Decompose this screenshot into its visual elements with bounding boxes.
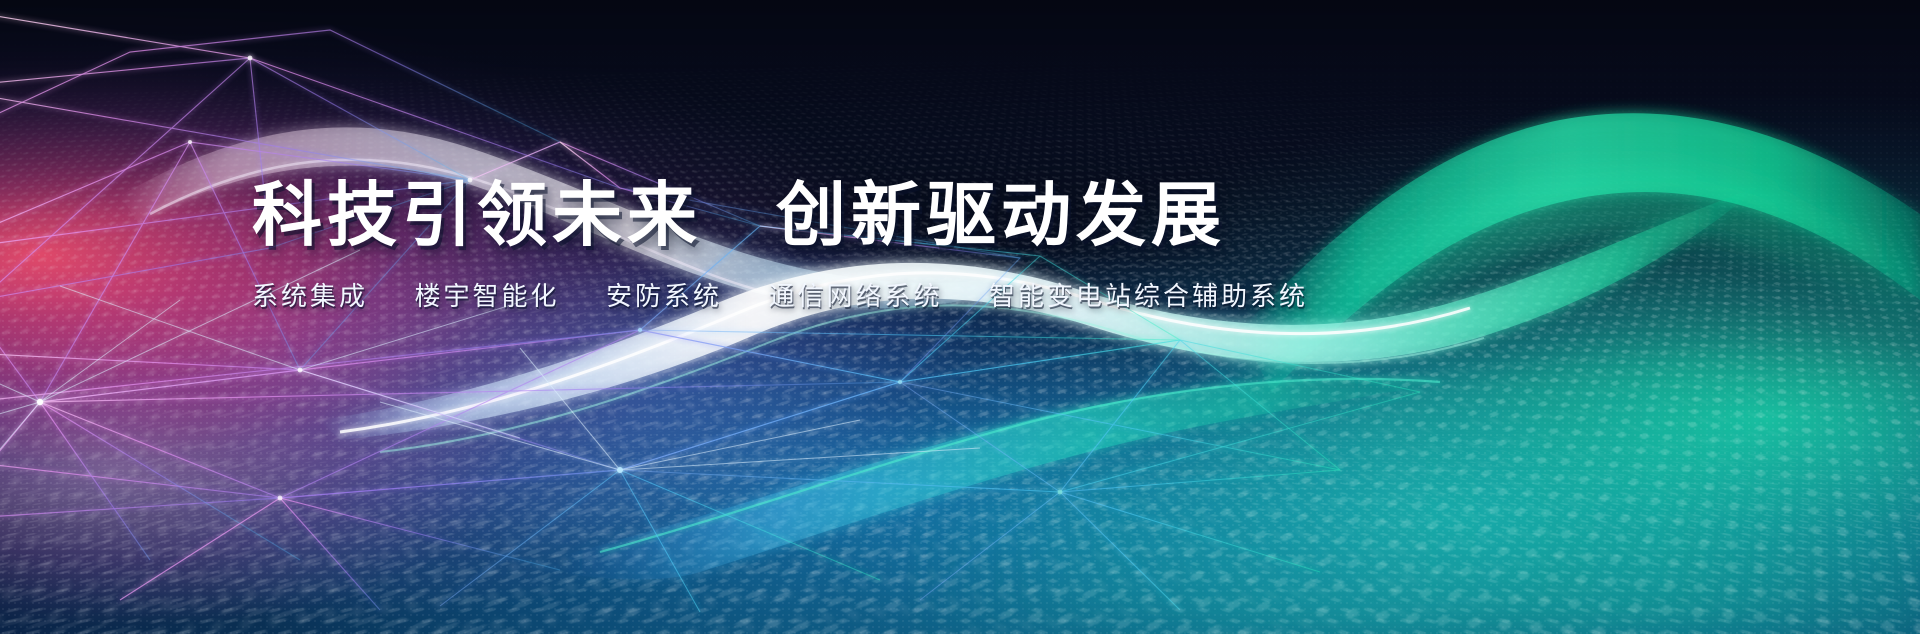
hero-banner: 科技引领未来 创新驱动发展 系统集成 楼宇智能化 安防系统 通信网络系统 智能变… (0, 0, 1920, 634)
banner-headline: 科技引领未来 创新驱动发展 (252, 178, 1372, 254)
subtitle-item-3: 通信网络系统 (768, 281, 942, 311)
banner-subtitle: 系统集成 楼宇智能化 安防系统 通信网络系统 智能变电站综合辅助系统 (252, 276, 1372, 313)
headline-part-2: 创新驱动发展 (776, 178, 1226, 254)
decorative-wave-graphics (0, 0, 1920, 634)
subtitle-item-2: 安防系统 (606, 281, 722, 311)
banner-text-block: 科技引领未来 创新驱动发展 系统集成 楼宇智能化 安防系统 通信网络系统 智能变… (252, 178, 1372, 313)
subtitle-item-1: 楼宇智能化 (414, 281, 559, 311)
subtitle-item-0: 系统集成 (252, 281, 368, 311)
green-wave-lower (900, 354, 1920, 634)
subtitle-item-4: 智能变电站综合辅助系统 (989, 281, 1308, 311)
headline-part-1: 科技引领未来 (252, 178, 702, 254)
